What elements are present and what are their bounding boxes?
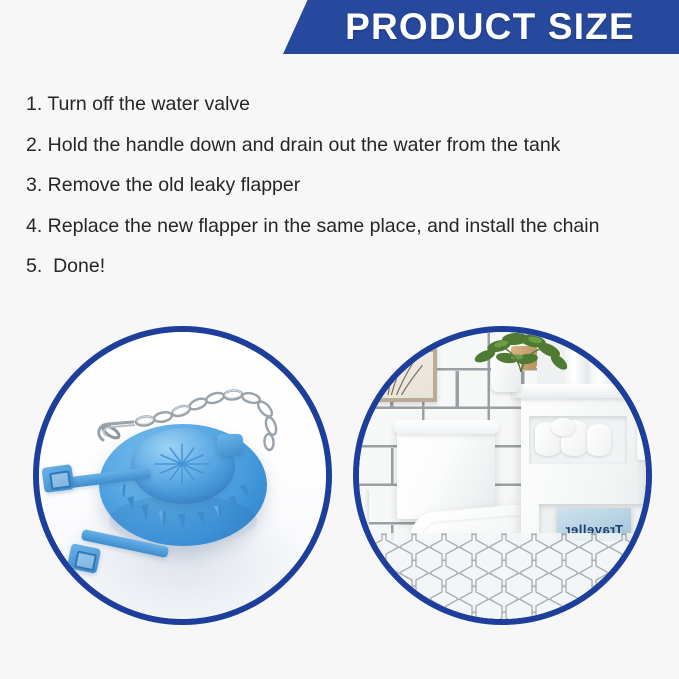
- bathroom-installation-photo: Traveller: [353, 326, 652, 625]
- starburst-icon: [149, 440, 215, 488]
- plant-icon: [463, 332, 573, 380]
- bathroom-photo-inner: Traveller: [359, 332, 646, 619]
- instruction-step: 2. Hold the handle down and drain out th…: [26, 136, 665, 156]
- instruction-step: 5. Done!: [26, 257, 665, 277]
- hexagon-floor-tiles: [359, 533, 646, 619]
- instruction-step: 1. Turn off the water valve: [26, 95, 665, 115]
- instruction-list: 1. Turn off the water valve 2. Hold the …: [26, 95, 665, 298]
- instruction-step: 4. Replace the new flapper in the same p…: [26, 217, 665, 237]
- instruction-step: 3. Remove the old leaky flapper: [26, 176, 665, 196]
- toilet-paper-holder: [637, 426, 646, 460]
- flapper-photo-inner: [39, 332, 326, 619]
- flapper-mount-ear-upper: [41, 464, 74, 493]
- flapper-chain-attachment: [217, 434, 243, 456]
- toilet-tank: [397, 427, 495, 519]
- header-banner: PRODUCT SIZE: [0, 0, 679, 54]
- flapper-product-photo: [33, 326, 332, 625]
- toilet-paper-roll: [551, 418, 575, 436]
- wall-art-frame: [375, 348, 437, 402]
- banner-shape: [283, 0, 679, 54]
- shelf-top-surface: [512, 384, 646, 398]
- page-title: PRODUCT SIZE: [283, 0, 679, 54]
- toilet-paper-roll: [587, 424, 611, 456]
